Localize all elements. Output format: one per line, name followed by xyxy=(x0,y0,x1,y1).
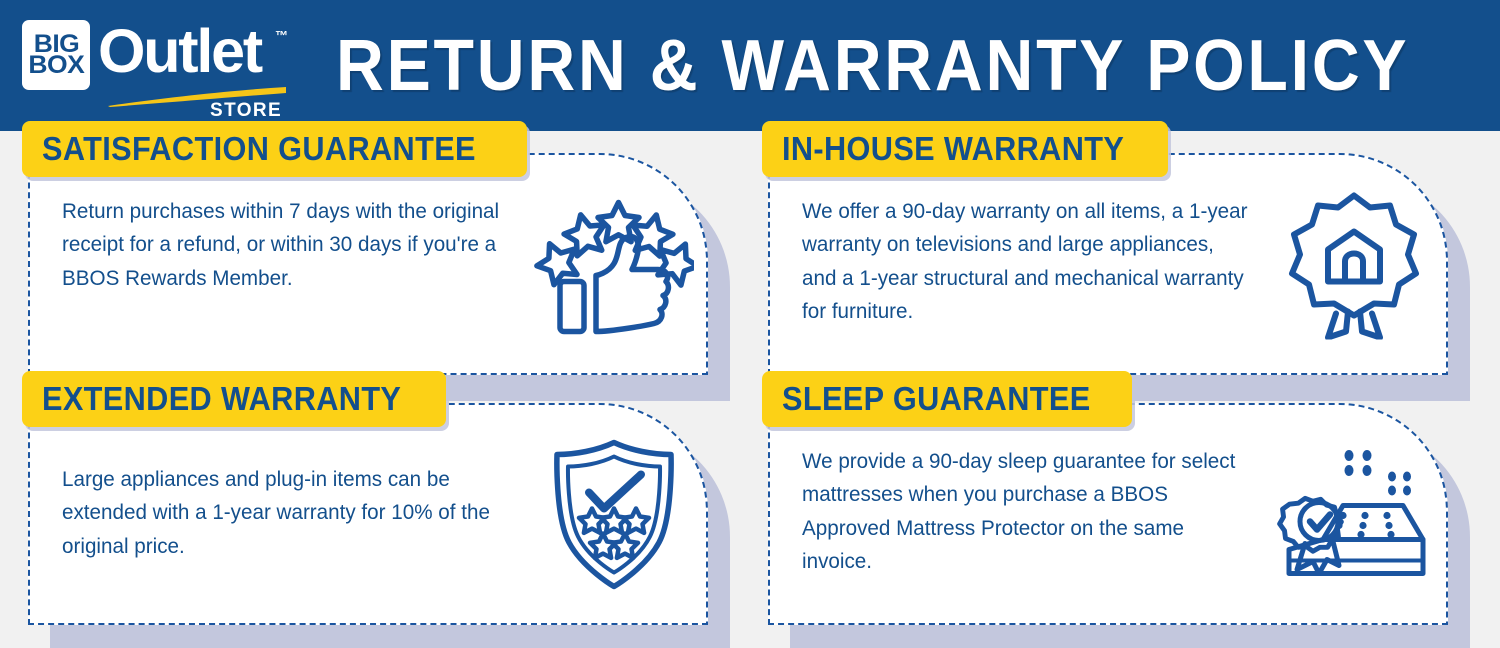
logo-subtext: STORE xyxy=(210,100,282,122)
card-title: IN-HOUSE WARRANTY xyxy=(782,130,1124,168)
card-title: SATISFACTION GUARANTEE xyxy=(42,130,476,168)
shield-check-stars-icon xyxy=(531,437,696,592)
card-title: EXTENDED WARRANTY xyxy=(42,380,401,418)
thumbs-up-five-stars-icon xyxy=(531,187,696,342)
page-title: RETURN & WARRANTY POLICY xyxy=(336,25,1409,107)
card-title: SLEEP GUARANTEE xyxy=(782,380,1091,418)
logo-wordmark: Outlet xyxy=(98,16,261,88)
policy-card: IN-HOUSE WARRANTY We offer a 90-day warr… xyxy=(768,153,1448,375)
policy-card: EXTENDED WARRANTY Large appliances and p… xyxy=(28,403,708,625)
card-description: We offer a 90-day warranty on all items,… xyxy=(802,195,1253,328)
brand-logo[interactable]: BIG BOX Outlet ™ STORE xyxy=(22,16,290,118)
mattress-certified-badge-icon xyxy=(1271,437,1436,592)
card-description: We provide a 90-day sleep guarantee for … xyxy=(802,445,1253,578)
card-title-badge: SLEEP GUARANTEE xyxy=(762,371,1132,427)
policy-card: SLEEP GUARANTEE We provide a 90-day slee… xyxy=(768,403,1448,625)
house-award-rosette-icon xyxy=(1271,187,1436,342)
card-description: Large appliances and plug-in items can b… xyxy=(62,463,513,563)
policy-card: SATISFACTION GUARANTEE Return purchases … xyxy=(28,153,708,375)
card-title-badge: IN-HOUSE WARRANTY xyxy=(762,121,1168,177)
logo-bigbox-line2: BOX xyxy=(28,55,84,77)
policy-card-grid: SATISFACTION GUARANTEE Return purchases … xyxy=(0,131,1500,648)
infographic-root: BIG BOX Outlet ™ STORE RETURN & WARRANTY… xyxy=(0,0,1500,648)
logo-trademark-symbol: ™ xyxy=(275,28,288,43)
logo-bigbox-mark: BIG BOX xyxy=(22,20,90,90)
card-title-badge: SATISFACTION GUARANTEE xyxy=(22,121,527,177)
card-title-badge: EXTENDED WARRANTY xyxy=(22,371,446,427)
card-description: Return purchases within 7 days with the … xyxy=(62,195,513,295)
header-bar: BIG BOX Outlet ™ STORE RETURN & WARRANTY… xyxy=(0,0,1500,131)
